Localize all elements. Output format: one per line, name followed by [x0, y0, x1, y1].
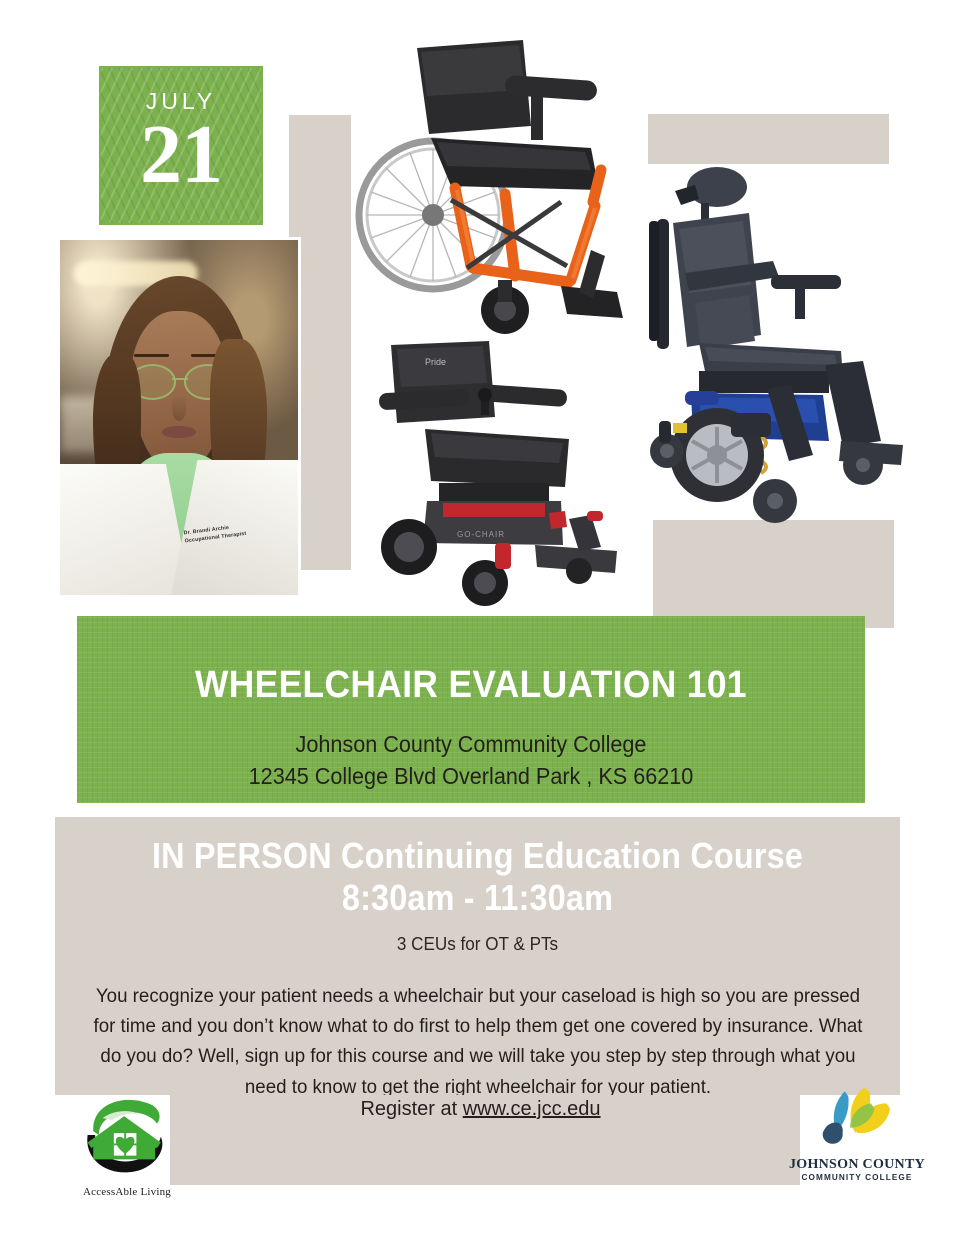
power-wheelchair-blue-image	[645, 165, 930, 540]
organization-address: 12345 College Blvd Overland Park , KS 66…	[101, 761, 842, 793]
accessable-living-wordmark: AccessAble Living	[58, 1186, 196, 1198]
registration-line: Register at www.ce.jcc.edu	[0, 1098, 961, 1121]
svg-text:Pride: Pride	[425, 357, 446, 367]
date-badge-day: 21	[101, 115, 261, 195]
portrait-lips	[162, 426, 195, 437]
course-description: You recognize your patient needs a wheel…	[88, 955, 868, 1102]
course-format-line: IN PERSON Continuing Education Course	[97, 817, 858, 877]
decorative-beige-block-left	[289, 115, 351, 570]
power-wheelchair-red-image: Pride GO-CHAIR	[365, 335, 650, 610]
registration-link[interactable]: www.ce.jcc.edu	[463, 1098, 601, 1120]
power-wheelchair-red-graphic: Pride GO-CHAIR	[379, 341, 617, 606]
jccc-name-line1: JOHNSON COUNTY	[782, 1157, 932, 1172]
svg-text:GO-CHAIR: GO-CHAIR	[457, 530, 505, 539]
organization-name: Johnson County Community College	[101, 707, 842, 761]
portrait-nose	[172, 396, 186, 421]
course-time-line: 8:30am - 11:30am	[97, 877, 858, 919]
date-badge: JULY 21	[101, 68, 261, 223]
decorative-beige-block-top-right	[648, 114, 889, 164]
title-banner: WHEELCHAIR EVALUATION 101 Johnson County…	[77, 616, 865, 803]
therapist-portrait-photo: Dr. Brandi Archie Occupational Therapist	[60, 240, 298, 595]
jccc-name-line2: COMMUNITY COLLEGE	[782, 1173, 932, 1182]
page-title: WHEELCHAIR EVALUATION 101	[105, 616, 838, 707]
course-details-panel: IN PERSON Continuing Education Course 8:…	[55, 817, 900, 1095]
manual-wheelchair-image	[355, 30, 655, 340]
flyer-canvas: JULY 21 Dr. Brandi Archie Occupational T…	[0, 0, 961, 1243]
ceu-credit-line: 3 CEUs for OT & PTs	[76, 920, 879, 955]
register-prefix: Register at	[360, 1098, 462, 1120]
manual-wheelchair-graphic	[359, 40, 623, 334]
power-wheelchair-blue-graphic	[649, 167, 903, 523]
portrait-brow-left	[134, 354, 170, 357]
